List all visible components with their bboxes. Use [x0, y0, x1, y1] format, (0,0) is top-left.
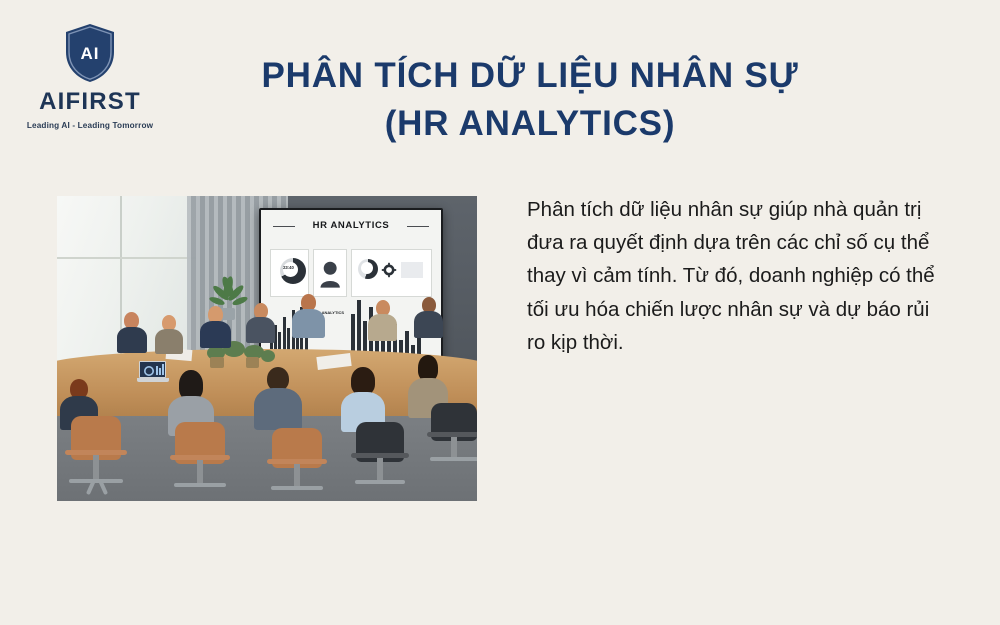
photo-person	[301, 294, 325, 338]
brand-wordmark: AIFIRST	[39, 90, 141, 114]
photo-person	[376, 300, 397, 341]
photo-chair	[170, 422, 230, 501]
shield-icon: AI	[62, 22, 118, 84]
photo-chair	[65, 416, 127, 501]
page-title-line-1: PHÂN TÍCH DỮ LIỆU NHÂN SỰ	[180, 52, 880, 100]
brand-logo: AI AIFIRST Leading AI - Leading Tomorrow	[20, 22, 160, 142]
photo-screen-metric: 23:40	[283, 265, 294, 270]
svg-text:AI: AI	[81, 44, 100, 63]
photo-person	[267, 367, 302, 430]
body-paragraph: Phân tích dữ liệu nhân sự giúp nhà quản …	[527, 193, 952, 359]
page-title-line-2: (HR ANALYTICS)	[180, 100, 880, 148]
photo-laptop	[137, 361, 169, 385]
photo-person	[254, 303, 275, 343]
photo-person	[124, 312, 147, 353]
photo-person	[208, 306, 231, 348]
photo-chair	[351, 422, 409, 501]
photo-chair	[267, 428, 327, 501]
photo-window-mullion	[57, 257, 196, 259]
brand-tagline: Leading AI - Leading Tomorrow	[27, 121, 153, 130]
photo-chair	[427, 403, 477, 479]
meeting-photo: HR ANALYTICS 23:40	[57, 196, 477, 501]
page-title: PHÂN TÍCH DỮ LIỆU NHÂN SỰ (HR ANALYTICS)	[180, 52, 880, 149]
photo-person	[422, 297, 443, 338]
photo-person	[162, 315, 183, 354]
photo-screen-content: HR ANALYTICS 23:40	[261, 210, 442, 371]
